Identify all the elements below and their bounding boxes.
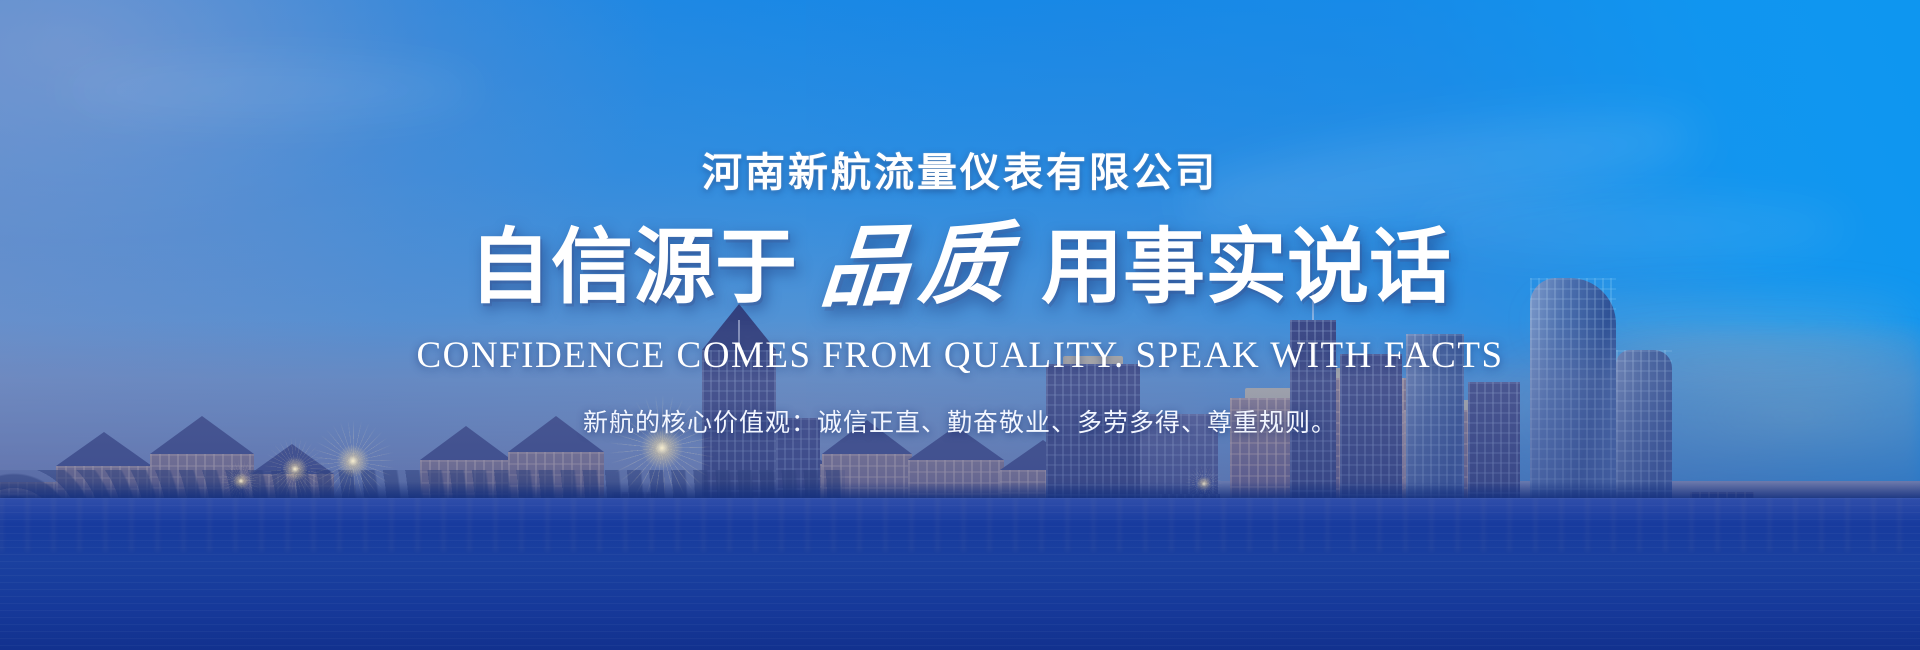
- company-name: 河南新航流量仪表有限公司: [702, 140, 1218, 198]
- headline: 自信源于 品质 用事实说话: [469, 224, 1451, 312]
- banner-content: 河南新航流量仪表有限公司 自信源于 品质 用事实说话 CONFIDENCE CO…: [0, 0, 1920, 650]
- headline-accent-quality: 品质: [807, 221, 1030, 315]
- subtitle-english: CONFIDENCE COMES FROM QUALITY. SPEAK WIT…: [416, 334, 1503, 377]
- headline-part2: 用事实说话: [1041, 227, 1451, 309]
- hero-banner: 河南新航流量仪表有限公司 自信源于 品质 用事实说话 CONFIDENCE CO…: [0, 0, 1920, 650]
- core-values-line: 新航的核心价值观：诚信正直、勤奋敬业、多劳多得、尊重规则。: [583, 403, 1337, 439]
- headline-part1: 自信源于: [469, 227, 797, 309]
